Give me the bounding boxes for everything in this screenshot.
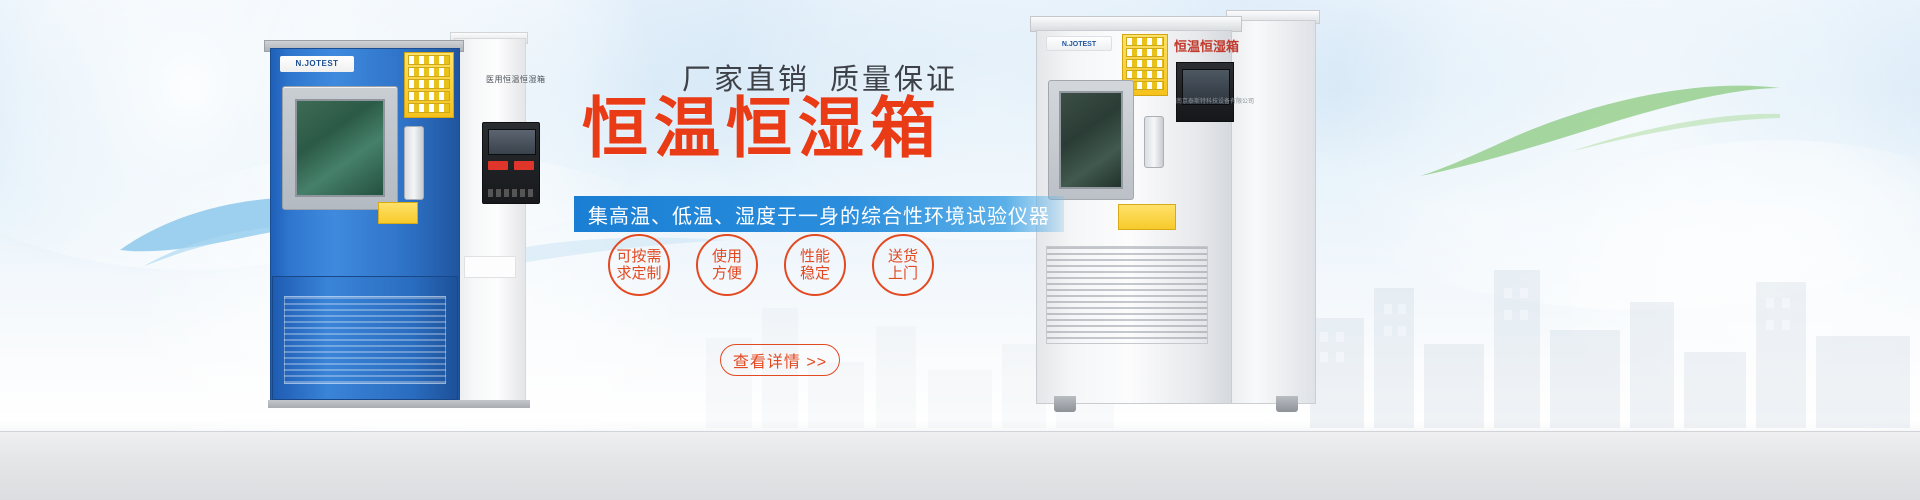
promo-banner: N.JOTEST 医用恒温恒湿箱 N.JOTEST 恒温恒湿箱	[0, 0, 1920, 500]
badge-line-1: 可按需	[616, 248, 661, 265]
feature-badge-delivery[interactable]: 送货 上门	[872, 234, 934, 296]
panel-led-humidity-left	[514, 161, 534, 170]
caution-tag-right	[1118, 204, 1176, 230]
panel-screen-left	[488, 129, 536, 155]
cloud-shape	[1500, 140, 1920, 440]
caution-tag-left	[378, 202, 418, 224]
control-panel-right	[1176, 62, 1234, 122]
subtitle-text: 集高温、低温、湿度于一身的综合性环境试验仪器	[588, 200, 1050, 229]
badge-line-1: 性能	[800, 248, 830, 265]
city-silhouette-icon	[1300, 248, 1920, 428]
cabinet-side-label-left: 医用恒温恒湿箱	[486, 74, 546, 85]
feature-badge-stable[interactable]: 性能 稳定	[784, 234, 846, 296]
brand-logo-left: N.JOTEST	[280, 56, 354, 72]
door-handle-left	[404, 126, 424, 200]
panel-buttons-left	[488, 189, 536, 197]
cabinet-base-left	[268, 400, 530, 408]
badge-line-2: 上门	[888, 265, 918, 282]
feature-badge-custom[interactable]: 可按需 求定制	[608, 234, 670, 296]
cabinet-body-white-left	[454, 38, 526, 402]
maker-plate-right: 南京泰斯特科技设备有限公司	[1176, 96, 1234, 106]
ventilation-grille-left	[284, 296, 446, 384]
cabinet-body-side-right	[1230, 20, 1316, 404]
view-details-button[interactable]: 查看详情 >>	[720, 344, 840, 376]
feature-badge-list: 可按需 求定制 使用 方便 性能 稳定 送货 上门	[608, 234, 934, 296]
chamber-door-left	[282, 86, 398, 210]
name-plate-right: 恒温恒湿箱	[1174, 36, 1234, 58]
maker-plate-left	[464, 256, 516, 278]
product-image-left: N.JOTEST 医用恒温恒湿箱	[258, 30, 526, 402]
control-panel-left	[482, 122, 540, 204]
badge-line-2: 求定制	[616, 265, 661, 282]
cloud-shape	[1260, 0, 1920, 310]
badge-line-1: 送货	[888, 248, 918, 265]
door-handle-right	[1144, 116, 1164, 168]
badge-line-2: 稳定	[800, 265, 830, 282]
banner-copy: 厂家直销质量保证 恒温恒湿箱 集高温、低温、湿度于一身的综合性环境试验仪器 可按…	[560, 0, 1080, 500]
badge-line-1: 使用	[712, 248, 742, 265]
page-title: 恒温恒湿箱	[582, 96, 942, 162]
view-details-label: 查看详情 >>	[733, 348, 827, 372]
subtitle-bar: 集高温、低温、湿度于一身的综合性环境试验仪器	[574, 196, 1064, 232]
door-window-left	[295, 99, 385, 197]
feature-badge-easy-use[interactable]: 使用 方便	[696, 234, 758, 296]
panel-led-temp-left	[488, 161, 508, 170]
swoosh-ribbon-icon	[1420, 60, 1780, 180]
cabinet-foot-right	[1276, 396, 1298, 412]
warning-label-left	[404, 52, 454, 118]
badge-line-2: 方便	[712, 265, 742, 282]
